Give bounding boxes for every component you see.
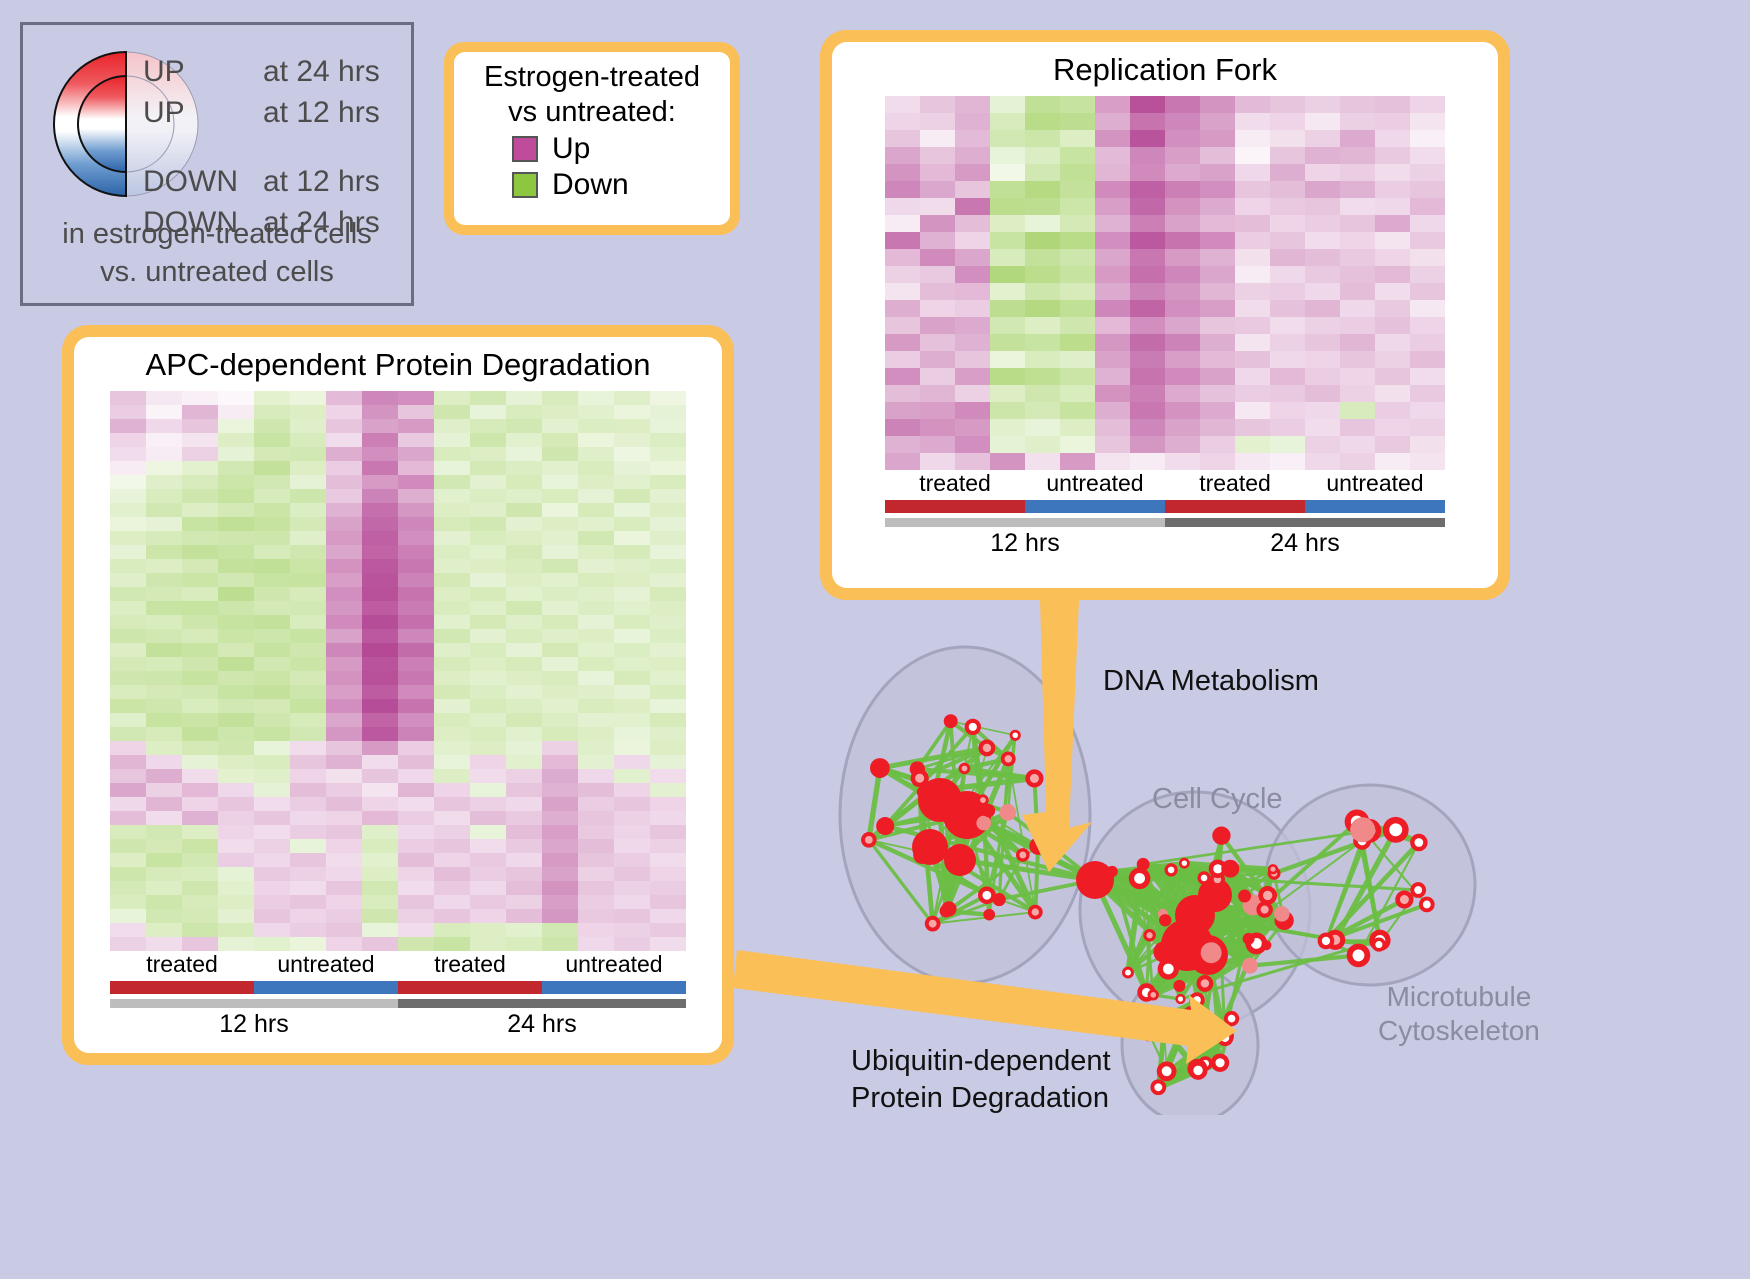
heatmap-cell xyxy=(920,283,955,300)
heatmap-cell xyxy=(1060,334,1095,351)
heatmap-cell xyxy=(182,643,218,657)
heatmap-cell xyxy=(506,391,542,405)
network-node xyxy=(1274,906,1289,921)
heatmap-cell xyxy=(1340,164,1375,181)
heatmap-cell xyxy=(326,517,362,531)
heatmap-cell xyxy=(920,181,955,198)
heatmap-cell xyxy=(1095,215,1130,232)
node-inner-disc xyxy=(980,797,986,803)
heatmap-cell xyxy=(650,517,686,531)
heatmap-cell xyxy=(434,587,470,601)
heatmap-cell xyxy=(542,671,578,685)
node-inner-disc xyxy=(983,744,991,752)
group-label: treated xyxy=(1165,470,1305,497)
heatmap-cell xyxy=(614,839,650,853)
heatmap-cell xyxy=(182,671,218,685)
heatmap-cell xyxy=(1410,266,1445,283)
network-node xyxy=(959,763,971,775)
heatmap-cell xyxy=(650,587,686,601)
network-node xyxy=(1197,871,1210,884)
heatmap-cell xyxy=(650,391,686,405)
heatmap-cell xyxy=(1130,215,1165,232)
heatmap-cell xyxy=(1165,96,1200,113)
heatmap-cell xyxy=(1305,368,1340,385)
node-inner-disc xyxy=(1125,970,1131,976)
heatmap-cell xyxy=(1235,130,1270,147)
heatmap-cell xyxy=(650,573,686,587)
heatmap-cell xyxy=(1410,113,1445,130)
heatmap-cell xyxy=(1375,351,1410,368)
heatmap-cell xyxy=(506,475,542,489)
network-node xyxy=(982,804,995,817)
heatmap-cell xyxy=(1305,181,1340,198)
heatmap-cell xyxy=(254,629,290,643)
heatmap-cell xyxy=(146,769,182,783)
down-swatch-icon xyxy=(512,172,538,198)
heatmap-cell xyxy=(955,317,990,334)
heatmap-cell xyxy=(1375,215,1410,232)
heatmap-cell xyxy=(1025,147,1060,164)
heatmap-cell xyxy=(290,461,326,475)
heatmap-cell xyxy=(398,783,434,797)
heatmap-cell xyxy=(110,405,146,419)
heatmap-cell xyxy=(1165,181,1200,198)
heatmap-cell xyxy=(885,317,920,334)
network-node xyxy=(1256,901,1272,917)
heatmap-cell xyxy=(1375,419,1410,436)
heatmap-cell xyxy=(955,419,990,436)
heatmap-cell xyxy=(578,475,614,489)
heatmap-cell xyxy=(218,797,254,811)
heatmap-cell xyxy=(290,839,326,853)
heatmap-cell xyxy=(110,587,146,601)
heatmap-cell xyxy=(182,909,218,923)
heatmap-cell xyxy=(218,531,254,545)
heatmap-cell xyxy=(990,317,1025,334)
heatmap-cell xyxy=(578,853,614,867)
heatmap-cell xyxy=(578,909,614,923)
heatmap-cell xyxy=(1340,249,1375,266)
network-node xyxy=(1129,868,1151,890)
heatmap-cell xyxy=(254,671,290,685)
group-label: untreated xyxy=(1025,470,1165,497)
heatmap-cell xyxy=(1375,368,1410,385)
heatmap-cell xyxy=(1200,368,1235,385)
heatmap-cell xyxy=(470,531,506,545)
heatmap-cell xyxy=(1200,147,1235,164)
tbar-24 xyxy=(1165,518,1445,527)
heatmap-cell xyxy=(1130,419,1165,436)
heatmap-cell xyxy=(614,587,650,601)
heatmap-cell xyxy=(218,895,254,909)
heatmap-cell xyxy=(990,351,1025,368)
heatmap-cell xyxy=(1165,113,1200,130)
apc-axis: treated untreated treated untreated 12 h… xyxy=(110,951,686,1039)
heatmap-cell xyxy=(650,601,686,615)
heatmap-cell xyxy=(1410,181,1445,198)
heatmap-cell xyxy=(326,503,362,517)
heatmap-cell xyxy=(254,783,290,797)
heatmap-cell xyxy=(326,881,362,895)
heatmap-cell xyxy=(182,699,218,713)
heatmap-cell xyxy=(955,198,990,215)
heatmap-cell xyxy=(1305,164,1340,181)
heatmap-cell xyxy=(1130,368,1165,385)
heatmap-cell xyxy=(614,825,650,839)
heatmap-cell xyxy=(254,727,290,741)
heatmap-cell xyxy=(990,419,1025,436)
heatmap-cell xyxy=(1165,283,1200,300)
heatmap-cell xyxy=(542,461,578,475)
heatmap-cell xyxy=(1305,351,1340,368)
heatmap-cell xyxy=(146,447,182,461)
heatmap-cell xyxy=(110,657,146,671)
heatmap-cell xyxy=(290,489,326,503)
estrogen-legend-title-2: vs untreated: xyxy=(468,95,716,130)
node-inner-disc xyxy=(969,723,977,731)
node-inner-disc xyxy=(1375,941,1382,948)
heatmap-cell xyxy=(218,853,254,867)
heatmap-cell xyxy=(1165,249,1200,266)
heatmap-cell xyxy=(1025,113,1060,130)
heatmap-cell xyxy=(990,96,1025,113)
heatmap-cell xyxy=(182,531,218,545)
node-inner-disc xyxy=(1193,1066,1202,1075)
heatmap-cell xyxy=(1410,96,1445,113)
heatmap-cell xyxy=(326,797,362,811)
heatmap-cell xyxy=(470,657,506,671)
heatmap-cell xyxy=(990,232,1025,249)
heatmap-cell xyxy=(1340,402,1375,419)
heatmap-cell xyxy=(434,895,470,909)
time-label: 24 hrs xyxy=(1165,529,1445,558)
heatmap-cell xyxy=(398,615,434,629)
heatmap-cell xyxy=(470,573,506,587)
heatmap-cell xyxy=(146,391,182,405)
heatmap-cell xyxy=(290,923,326,937)
heatmap-cell xyxy=(650,811,686,825)
heatmap-cell xyxy=(362,923,398,937)
heatmap-cell xyxy=(254,447,290,461)
heatmap-cell xyxy=(506,895,542,909)
heatmap-cell xyxy=(1200,300,1235,317)
heatmap-cell xyxy=(506,881,542,895)
heatmap-cell xyxy=(110,531,146,545)
heatmap-cell xyxy=(182,517,218,531)
heatmap-cell xyxy=(542,559,578,573)
heatmap-cell xyxy=(146,615,182,629)
replication-fork-panel: Replication Fork treated untreated treat… xyxy=(820,30,1510,600)
heatmap-cell xyxy=(362,629,398,643)
network-node xyxy=(983,909,995,921)
heatmap-cell xyxy=(920,198,955,215)
network-node xyxy=(1025,769,1043,787)
heatmap-cell xyxy=(955,181,990,198)
heatmap-cell xyxy=(955,334,990,351)
heatmap-cell xyxy=(1095,130,1130,147)
heatmap-cell xyxy=(254,657,290,671)
heatmap-cell xyxy=(146,573,182,587)
heatmap-cell xyxy=(542,587,578,601)
heatmap-cell xyxy=(1270,368,1305,385)
heatmap-cell xyxy=(650,797,686,811)
time-label: 24 hrs xyxy=(398,1010,686,1039)
heatmap-cell xyxy=(1165,436,1200,453)
network-node xyxy=(1107,866,1118,877)
heatmap-cell xyxy=(362,867,398,881)
tbar-12 xyxy=(885,518,1165,527)
heatmap-cell xyxy=(1095,368,1130,385)
heatmap-cell xyxy=(290,867,326,881)
heatmap-cell xyxy=(362,755,398,769)
heatmap-cell xyxy=(506,601,542,615)
heatmap-cell xyxy=(885,283,920,300)
heatmap-cell xyxy=(1410,283,1445,300)
heatmap-cell xyxy=(542,615,578,629)
heatmap-cell xyxy=(362,475,398,489)
heatmap-cell xyxy=(506,545,542,559)
heatmap-cell xyxy=(578,503,614,517)
heatmap-cell xyxy=(470,895,506,909)
heatmap-cell xyxy=(1025,300,1060,317)
cluster-label-cell-cycle: Cell Cycle xyxy=(1152,783,1283,816)
heatmap-cell xyxy=(1375,436,1410,453)
heatmap-cell xyxy=(920,334,955,351)
heatmap-cell xyxy=(362,909,398,923)
apc-heatmap xyxy=(110,391,686,951)
network-node xyxy=(1153,941,1174,962)
heatmap-cell xyxy=(578,531,614,545)
heatmap-cell xyxy=(326,699,362,713)
heatmap-cell xyxy=(182,769,218,783)
heatmap-cell xyxy=(470,909,506,923)
heatmap-cell xyxy=(1200,96,1235,113)
heatmap-cell xyxy=(1375,232,1410,249)
apc-protein-degradation-panel: APC-dependent Protein Degradation treate… xyxy=(62,325,734,1065)
heatmap-cell xyxy=(398,797,434,811)
heatmap-cell xyxy=(885,232,920,249)
heatmap-cell xyxy=(1340,266,1375,283)
heatmap-cell xyxy=(326,839,362,853)
heatmap-cell xyxy=(434,671,470,685)
heatmap-cell xyxy=(434,419,470,433)
heatmap-cell xyxy=(1200,419,1235,436)
heatmap-cell xyxy=(326,433,362,447)
heatmap-cell xyxy=(578,755,614,769)
heatmap-cell xyxy=(182,853,218,867)
heatmap-cell xyxy=(542,727,578,741)
heatmap-cell xyxy=(650,419,686,433)
network-node xyxy=(1243,933,1255,945)
heatmap-cell xyxy=(182,391,218,405)
heatmap-cell xyxy=(542,867,578,881)
heatmap-cell xyxy=(182,587,218,601)
heatmap-cell xyxy=(885,351,920,368)
heatmap-cell xyxy=(398,405,434,419)
heatmap-cell xyxy=(182,741,218,755)
heatmap-cell xyxy=(290,531,326,545)
heatmap-cell xyxy=(218,391,254,405)
group-label: treated xyxy=(110,951,254,978)
legend-value: at 24 hrs xyxy=(263,51,380,92)
legend-value: at 12 hrs xyxy=(263,92,380,133)
heatmap-cell xyxy=(326,825,362,839)
heatmap-cell xyxy=(1235,232,1270,249)
heatmap-cell xyxy=(578,797,614,811)
network-node xyxy=(978,886,996,904)
heatmap-cell xyxy=(470,713,506,727)
network-node xyxy=(1217,1030,1234,1047)
heatmap-cell xyxy=(955,215,990,232)
heatmap-cell xyxy=(290,601,326,615)
heatmap-cell xyxy=(290,825,326,839)
heatmap-cell xyxy=(1340,317,1375,334)
heatmap-cell xyxy=(470,587,506,601)
heatmap-cell xyxy=(290,741,326,755)
heatmap-cell xyxy=(1200,334,1235,351)
heatmap-cell xyxy=(1130,130,1165,147)
treatment-color-bar xyxy=(885,500,1445,513)
heatmap-cell xyxy=(920,317,955,334)
heatmap-cell xyxy=(1130,436,1165,453)
network-node xyxy=(1419,897,1435,913)
heatmap-cell xyxy=(506,909,542,923)
heatmap-cell xyxy=(578,923,614,937)
legend-item-down: Down xyxy=(512,168,716,202)
heatmap-cell xyxy=(146,811,182,825)
heatmap-cell xyxy=(110,755,146,769)
heatmap-cell xyxy=(542,545,578,559)
heatmap-cell xyxy=(110,685,146,699)
heatmap-cell xyxy=(542,811,578,825)
heatmap-cell xyxy=(218,643,254,657)
heatmap-cell xyxy=(290,615,326,629)
heatmap-cell xyxy=(885,266,920,283)
heatmap-cell xyxy=(434,713,470,727)
heatmap-cell xyxy=(470,503,506,517)
heatmap-cell xyxy=(398,685,434,699)
heatmap-cell xyxy=(254,853,290,867)
bar-treated-12 xyxy=(110,981,254,994)
heatmap-cell xyxy=(398,755,434,769)
heatmap-cell xyxy=(1165,351,1200,368)
heatmap-cell xyxy=(542,573,578,587)
heatmap-cell xyxy=(578,685,614,699)
heatmap-cell xyxy=(578,825,614,839)
heatmap-cell xyxy=(110,727,146,741)
node-inner-disc xyxy=(1012,732,1018,738)
heatmap-cell xyxy=(506,643,542,657)
heatmap-cell xyxy=(146,923,182,937)
heatmap-cell xyxy=(1375,198,1410,215)
heatmap-cell xyxy=(254,615,290,629)
heatmap-cell xyxy=(434,433,470,447)
heatmap-cell xyxy=(326,895,362,909)
heatmap-cell xyxy=(1025,317,1060,334)
heatmap-cell xyxy=(1270,385,1305,402)
heatmap-cell xyxy=(470,881,506,895)
heatmap-cell xyxy=(1095,147,1130,164)
heatmap-cell xyxy=(506,447,542,461)
heatmap-cell xyxy=(290,713,326,727)
heatmap-cell xyxy=(885,453,920,470)
network-node xyxy=(1157,1009,1172,1024)
heatmap-cell xyxy=(542,797,578,811)
heatmap-cell xyxy=(398,531,434,545)
heatmap-cell xyxy=(182,685,218,699)
colorwheel-legend-footer: in estrogen-treated cells vs. untreated … xyxy=(23,215,411,291)
heatmap-cell xyxy=(398,895,434,909)
heatmap-cell xyxy=(1305,232,1340,249)
heatmap-cell xyxy=(1060,453,1095,470)
heatmap-cell xyxy=(955,113,990,130)
heatmap-cell xyxy=(1410,436,1445,453)
node-inner-disc xyxy=(1228,1015,1236,1023)
heatmap-cell xyxy=(326,867,362,881)
heatmap-cell xyxy=(362,797,398,811)
group-label: untreated xyxy=(254,951,398,978)
up-label: Up xyxy=(552,132,590,166)
heatmap-cell xyxy=(1025,334,1060,351)
heatmap-cell xyxy=(614,699,650,713)
node-inner-disc xyxy=(1030,774,1039,783)
network-node xyxy=(1028,905,1043,920)
heatmap-cell xyxy=(614,909,650,923)
heatmap-cell xyxy=(542,895,578,909)
heatmap-cell xyxy=(1340,453,1375,470)
heatmap-cell xyxy=(614,489,650,503)
heatmap-cell xyxy=(146,671,182,685)
heatmap-cell xyxy=(1375,453,1410,470)
network-node xyxy=(1189,1061,1208,1080)
heatmap-cell xyxy=(326,475,362,489)
heatmap-cell xyxy=(470,685,506,699)
heatmap-cell xyxy=(326,531,362,545)
network-node xyxy=(1140,1025,1157,1042)
heatmap-cell xyxy=(110,797,146,811)
heatmap-cell xyxy=(990,368,1025,385)
heatmap-cell xyxy=(650,909,686,923)
heatmap-cell xyxy=(1200,164,1235,181)
heatmap-cell xyxy=(110,937,146,951)
heatmap-cell xyxy=(578,461,614,475)
node-inner-disc xyxy=(1005,755,1012,762)
heatmap-cell xyxy=(470,839,506,853)
heatmap-cell xyxy=(1130,402,1165,419)
heatmap-cell xyxy=(146,559,182,573)
heatmap-cell xyxy=(1130,198,1165,215)
network-node xyxy=(1179,858,1190,869)
heatmap-cell xyxy=(885,164,920,181)
heatmap-cell xyxy=(1305,266,1340,283)
heatmap-cell xyxy=(1270,113,1305,130)
heatmap-cell xyxy=(1165,385,1200,402)
heatmap-cell xyxy=(614,629,650,643)
heatmap-cell xyxy=(290,559,326,573)
heatmap-cell xyxy=(578,769,614,783)
heatmap-cell xyxy=(955,453,990,470)
heatmap-cell xyxy=(506,517,542,531)
heatmap-cell xyxy=(254,601,290,615)
legend-value: at 12 hrs xyxy=(263,161,380,202)
heatmap-cell xyxy=(254,699,290,713)
heatmap-cell xyxy=(1305,96,1340,113)
heatmap-cell xyxy=(1200,215,1235,232)
heatmap-cell xyxy=(218,503,254,517)
heatmap-cell xyxy=(1130,249,1165,266)
down-label: Down xyxy=(552,168,629,202)
heatmap-cell xyxy=(182,601,218,615)
